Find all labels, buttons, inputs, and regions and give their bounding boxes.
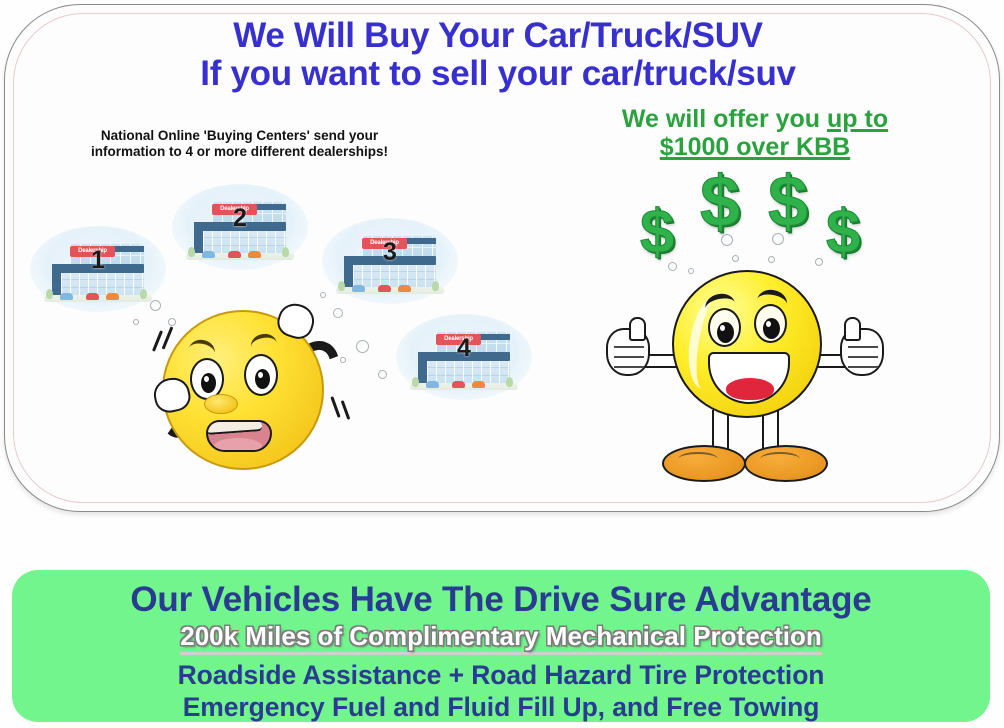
dealership-1-car-red bbox=[86, 293, 99, 300]
right-thumb bbox=[844, 317, 861, 341]
motion-line bbox=[341, 400, 351, 420]
knuckle-line bbox=[848, 366, 878, 368]
thought-bubble-icon bbox=[320, 292, 326, 298]
motion-line bbox=[330, 396, 340, 418]
buying-centers-caption-line-1: National Online 'Buying Centers' send yo… bbox=[62, 128, 417, 144]
dealership-1-car-orange bbox=[106, 293, 119, 300]
offer-line-1-underlined: up to bbox=[827, 105, 888, 133]
dealership-3-car-blue bbox=[352, 285, 365, 292]
advantage-heading: Our Vehicles Have The Drive Sure Advanta… bbox=[12, 580, 990, 620]
advantage-subheading-wrap: 200k Miles of Complimentary Mechanical P… bbox=[12, 620, 990, 652]
emoji-smiling-mouth bbox=[708, 352, 790, 404]
dealership-4-tree-left bbox=[412, 377, 419, 387]
headline-line-2: If you want to sell your car/truck/suv bbox=[0, 56, 996, 92]
dealership-2-car-blue bbox=[202, 251, 215, 258]
advantage-subheading: 200k Miles of Complimentary Mechanical P… bbox=[180, 621, 822, 655]
dealership-4-car-red bbox=[452, 381, 465, 388]
offer-line-1: We will offer you up to bbox=[590, 105, 920, 133]
advantage-banner: Our Vehicles Have The Drive Sure Advanta… bbox=[12, 570, 990, 722]
thought-bubble-icon bbox=[378, 370, 387, 379]
emoji-right-eye bbox=[244, 354, 278, 396]
knuckle-line bbox=[614, 366, 644, 368]
dealership-4-car-orange bbox=[472, 381, 485, 388]
thought-bubble-icon bbox=[356, 340, 369, 353]
dealership-2-number: 2 bbox=[172, 204, 308, 233]
emoji-tongue bbox=[726, 378, 774, 400]
happy-emoji bbox=[600, 262, 890, 487]
emoji-left-pupil bbox=[201, 373, 216, 393]
headline-line-1: We Will Buy Your Car/Truck/SUV bbox=[0, 18, 996, 54]
dealership-4-tree-right bbox=[506, 377, 513, 387]
dealership-4-facade bbox=[427, 361, 510, 384]
offer-line-2: $1000 over KBB bbox=[590, 133, 920, 161]
dealership-1-tree-right bbox=[140, 289, 147, 299]
dealership-1-number: 1 bbox=[30, 246, 166, 275]
emoji-left-shoe bbox=[662, 445, 746, 482]
emoji-mouth bbox=[206, 420, 272, 452]
confused-emoji bbox=[152, 300, 352, 475]
advantage-benefit-line-1: Roadside Assistance + Road Hazard Tire P… bbox=[12, 659, 990, 691]
dealership-3-tree-left bbox=[338, 281, 345, 291]
emoji-left-pupil bbox=[717, 322, 734, 343]
dealership-2-car-orange bbox=[248, 251, 261, 258]
dollar-sign-icon-1: $ bbox=[640, 202, 674, 264]
thought-bubble-icon bbox=[772, 233, 784, 245]
emoji-right-eye bbox=[754, 304, 787, 343]
dollar-sign-icon-4: $ bbox=[826, 202, 860, 264]
emoji-tongue bbox=[214, 438, 262, 452]
emoji-right-eyebrow bbox=[249, 332, 277, 347]
emoji-right-pupil bbox=[763, 318, 780, 339]
dealership-3-tree-right bbox=[432, 281, 439, 291]
dealership-illustration-3: Dealership 3 bbox=[322, 218, 458, 304]
emoji-left-thumbs-up-icon bbox=[606, 328, 650, 376]
dealership-4-number: 4 bbox=[396, 334, 532, 363]
buying-centers-caption: National Online 'Buying Centers' send yo… bbox=[62, 128, 417, 159]
dealership-illustration-1: Dealership 1 bbox=[30, 226, 166, 312]
emoji-teeth bbox=[206, 420, 262, 435]
thought-bubble-icon bbox=[721, 234, 733, 246]
offer-line-1-plain: We will offer you bbox=[622, 105, 827, 133]
emoji-right-pupil bbox=[255, 369, 270, 389]
dealership-3-number: 3 bbox=[322, 238, 458, 267]
dealership-2-tree-right bbox=[282, 247, 289, 257]
emoji-right-shoe bbox=[744, 445, 828, 482]
dealership-1-tree-left bbox=[46, 289, 53, 299]
motion-line bbox=[162, 326, 174, 349]
dealership-1-facade bbox=[61, 273, 144, 296]
advantage-benefit-line-2: Emergency Fuel and Fluid Fill Up, and Fr… bbox=[12, 691, 990, 723]
knuckle-line bbox=[848, 356, 878, 358]
knuckle-line bbox=[614, 356, 644, 358]
dealership-3-car-red bbox=[378, 285, 391, 292]
buying-centers-caption-line-2: information to 4 or more different deale… bbox=[62, 144, 417, 160]
emoji-right-thumbs-up-icon bbox=[840, 328, 884, 376]
dealership-2-tree-left bbox=[188, 247, 195, 257]
dealership-illustration-4: Dealership 4 bbox=[396, 314, 532, 400]
emoji-left-eye bbox=[708, 308, 741, 347]
emoji-left-eyebrow bbox=[189, 337, 217, 353]
emoji-nose bbox=[204, 394, 238, 414]
emoji-face bbox=[672, 270, 822, 418]
dealership-3-car-orange bbox=[398, 285, 411, 292]
dollar-sign-icon-2: $ bbox=[700, 166, 740, 238]
offer-text: We will offer you up to $1000 over KBB bbox=[590, 105, 920, 161]
dealership-2-facade bbox=[203, 231, 286, 254]
emoji-right-eyebrow bbox=[757, 287, 789, 304]
knuckle-line bbox=[848, 346, 878, 348]
thought-bubble-icon bbox=[133, 319, 139, 325]
dealership-illustration-2: Dealership 2 bbox=[172, 184, 308, 270]
dollar-sign-icon-3: $ bbox=[768, 166, 808, 238]
page-title: We Will Buy Your Car/Truck/SUV If you wa… bbox=[0, 18, 996, 92]
dealership-1-car-blue bbox=[60, 293, 73, 300]
dealership-3-facade bbox=[353, 265, 436, 288]
thought-bubble-icon bbox=[732, 255, 739, 262]
dealership-4-car-blue bbox=[426, 381, 439, 388]
left-thumb bbox=[629, 317, 646, 341]
dealership-2-car-red bbox=[228, 251, 241, 258]
knuckle-line bbox=[614, 346, 644, 348]
